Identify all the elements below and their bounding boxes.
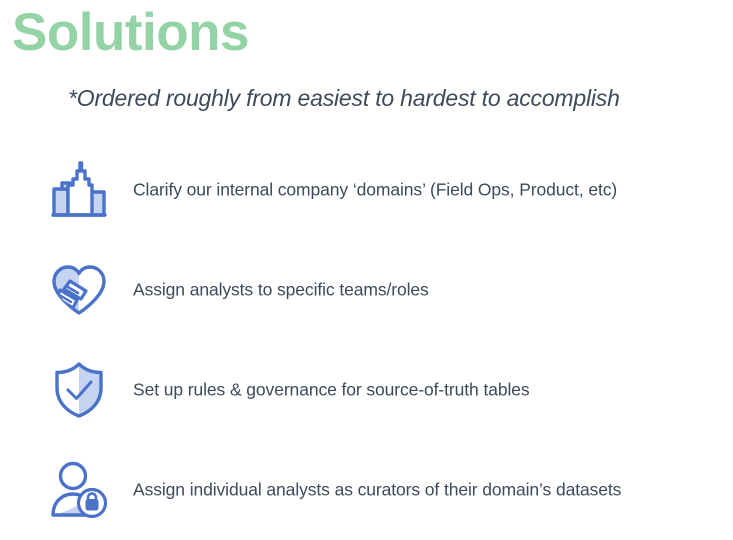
list-item-label: Set up rules & governance for source-of-… [133,380,530,401]
shield-check-icon [48,359,110,421]
list-item-label: Assign individual analysts as curators o… [133,480,621,501]
list-item: Assign individual analysts as curators o… [0,440,733,540]
city-buildings-icon [48,159,110,221]
page-subtitle: *Ordered roughly from easiest to hardest… [68,85,620,112]
list-item: Set up rules & governance for source-of-… [0,340,733,440]
page-title: Solutions [12,4,249,62]
list-item-label: Clarify our internal company ‘domains’ (… [133,180,617,201]
user-lock-icon [48,459,110,521]
solutions-slide: Solutions *Ordered roughly from easiest … [0,0,733,516]
list-item-label: Assign analysts to specific teams/roles [133,280,429,301]
solutions-list: Clarify our internal company ‘domains’ (… [0,140,733,540]
list-item: Clarify our internal company ‘domains’ (… [0,140,733,240]
list-item: Assign analysts to specific teams/roles [0,240,733,340]
heart-handshake-icon [48,259,110,321]
